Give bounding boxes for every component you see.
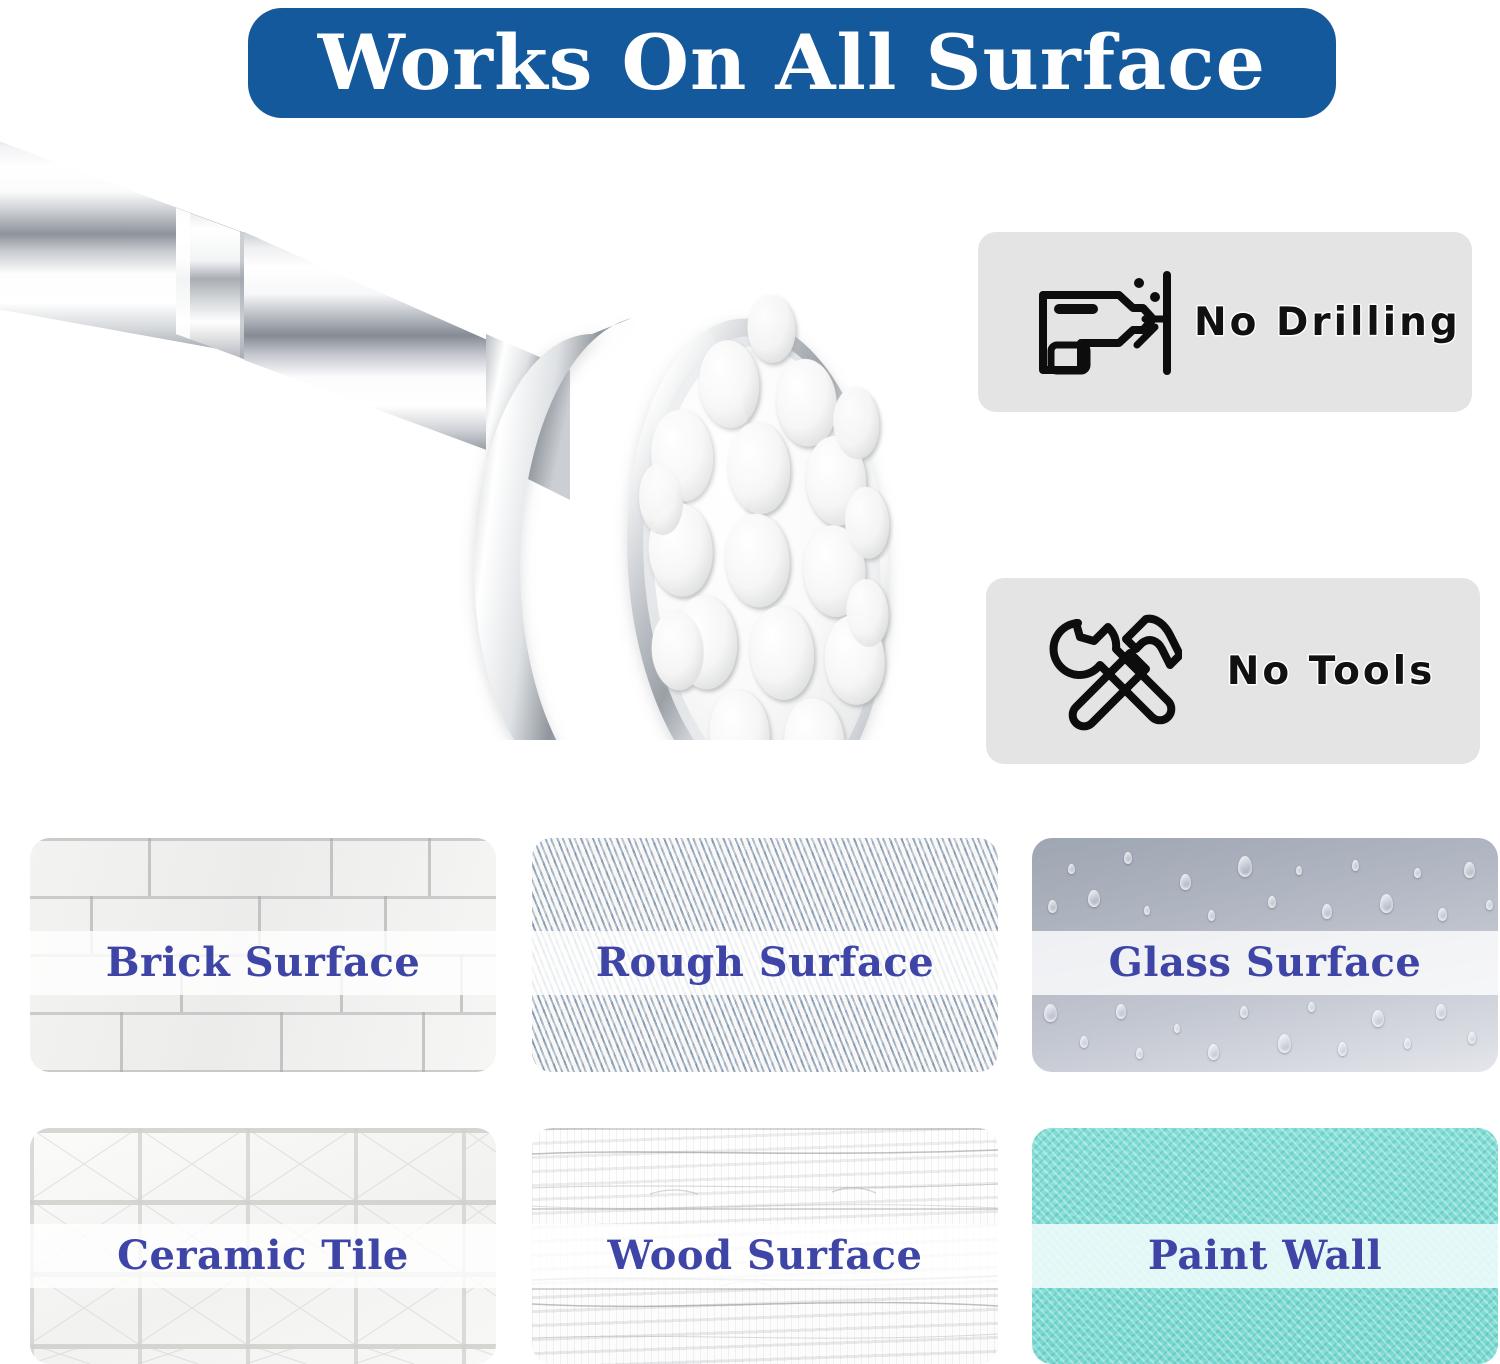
surface-tile-wood: Wood Surface [532, 1128, 998, 1364]
badge-no-tools: No Tools [986, 578, 1480, 764]
tile-label-band: Rough Surface [532, 931, 998, 995]
tile-label-band: Wood Surface [532, 1224, 998, 1288]
page-title: Works On All Surface [318, 25, 1266, 101]
wrench-hammer-icon [1022, 596, 1202, 746]
tile-label-brick: Brick Surface [106, 943, 421, 983]
headline-banner: Works On All Surface [248, 8, 1336, 118]
product-photo [0, 120, 960, 740]
surface-tile-rough: Rough Surface [532, 838, 998, 1072]
tile-label-band: Ceramic Tile [30, 1224, 496, 1288]
tile-label-band: Glass Surface [1032, 931, 1498, 995]
rod-inner-tube [244, 232, 492, 452]
tile-label-band: Paint Wall [1032, 1224, 1498, 1288]
badge-label-no-drilling: No Drilling [1194, 300, 1481, 345]
surface-tile-paint: Paint Wall [1032, 1128, 1498, 1364]
badge-label-no-tools: No Tools [1202, 649, 1480, 694]
drill-icon [1014, 247, 1194, 397]
tile-label-wood: Wood Surface [608, 1236, 923, 1276]
surface-tile-brick: Brick Surface [30, 838, 496, 1072]
surface-tile-ceramic: Ceramic Tile [30, 1128, 496, 1364]
tile-label-ceramic: Ceramic Tile [117, 1236, 409, 1276]
tile-label-rough: Rough Surface [596, 943, 934, 983]
product-feature-image: Works On All Surface [0, 0, 1500, 1364]
tile-label-band: Brick Surface [30, 931, 496, 995]
tile-label-glass: Glass Surface [1109, 943, 1422, 983]
tile-label-paint: Paint Wall [1148, 1236, 1382, 1276]
badge-no-drilling: No Drilling [978, 232, 1472, 412]
surface-tile-glass: Glass Surface [1032, 838, 1498, 1072]
shower-rod-illustration [0, 120, 960, 740]
